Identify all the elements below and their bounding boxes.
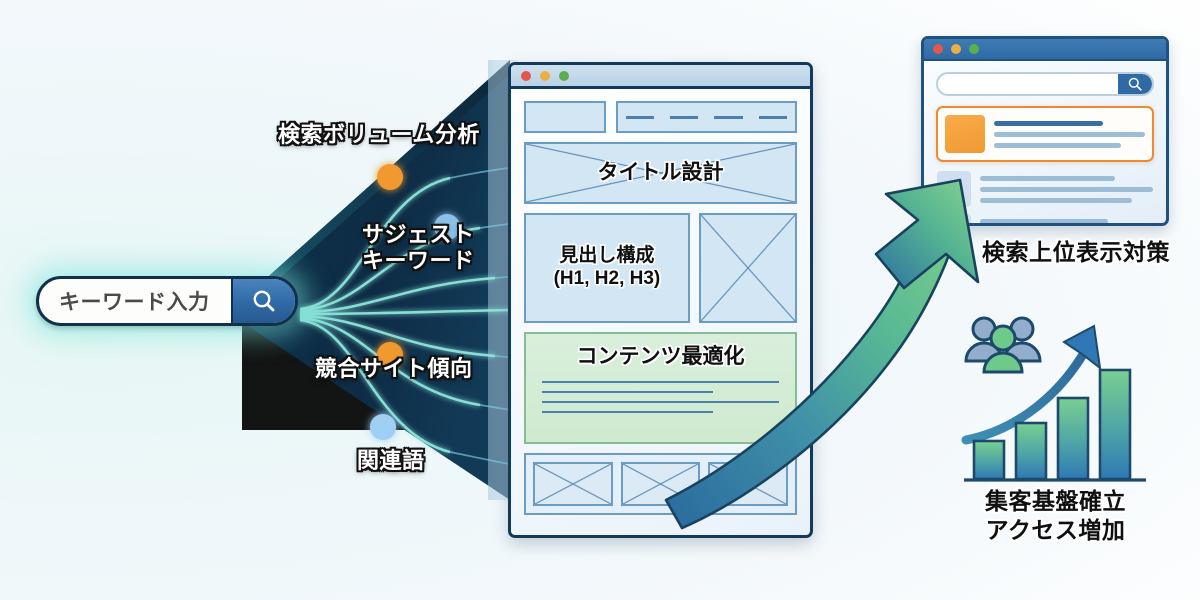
heading-structure-line2: (H1, H2, H3): [554, 268, 661, 291]
minimize-icon[interactable]: [540, 71, 550, 81]
growth-outcome-line1: 集客基盤確立: [985, 487, 1126, 516]
serp-search-bar[interactable]: [936, 72, 1154, 96]
nav-dash-4: [759, 116, 787, 119]
heading-structure-line1: 見出し構成: [554, 245, 661, 268]
serp-search-button[interactable]: [1118, 74, 1152, 94]
center-window-titlebar: [511, 65, 810, 89]
logo-placeholder: [524, 101, 606, 133]
result-desc-line-1: [994, 132, 1145, 137]
close-icon[interactable]: [521, 71, 531, 81]
result-desc-line-2: [994, 143, 1121, 148]
fan-label-search-volume: 検索ボリューム分析: [278, 122, 480, 148]
fan-node-1: [377, 164, 403, 190]
bar-2: [1016, 423, 1046, 479]
fan-node-4: [370, 414, 396, 440]
close-icon[interactable]: [933, 44, 943, 54]
fan-label-suggest-line2: キーワード: [362, 248, 475, 274]
result-thumbnail: [945, 115, 985, 153]
growth-arrow: [660, 150, 1020, 540]
serp-window-titlebar: [924, 39, 1166, 61]
footer-cell-1: [533, 462, 613, 506]
keyword-search-box[interactable]: キーワード入力: [36, 276, 298, 326]
maximize-icon[interactable]: [559, 71, 569, 81]
fan-label-suggest-line1: サジェスト: [362, 222, 475, 248]
nav-dash-1: [626, 116, 654, 119]
infographic-canvas: キーワード入力 検索ボリューム分析 サジェスト キーワード 競合サイト傾向 関連…: [0, 0, 1200, 600]
search-icon: [251, 288, 277, 314]
growth-outcome-label: 集客基盤確立 アクセス増加: [985, 487, 1126, 546]
growth-outcome-line2: アクセス増加: [985, 516, 1126, 545]
search-input[interactable]: キーワード入力: [39, 286, 231, 316]
search-icon: [1127, 76, 1143, 92]
result-title-line: [994, 121, 1103, 126]
maximize-icon[interactable]: [969, 44, 979, 54]
fan-label-related-words: 関連語: [357, 448, 425, 474]
nav-dash-2: [670, 116, 698, 119]
result-text-lines: [994, 115, 1145, 153]
fan-label-competitor-trend: 競合サイト傾向: [315, 356, 473, 382]
nav-dash-3: [714, 116, 742, 119]
bar-4: [1100, 370, 1130, 479]
heading-structure-label: 見出し構成 (H1, H2, H3): [554, 245, 661, 291]
nav-placeholder: [616, 101, 797, 133]
fan-label-suggest-keyword: サジェスト キーワード: [362, 222, 475, 274]
wireframe-header-row: [524, 101, 797, 133]
bar-3: [1058, 398, 1088, 479]
search-button[interactable]: [231, 279, 295, 323]
minimize-icon[interactable]: [951, 44, 961, 54]
serp-outcome-label: 検索上位表示対策: [982, 238, 1170, 267]
